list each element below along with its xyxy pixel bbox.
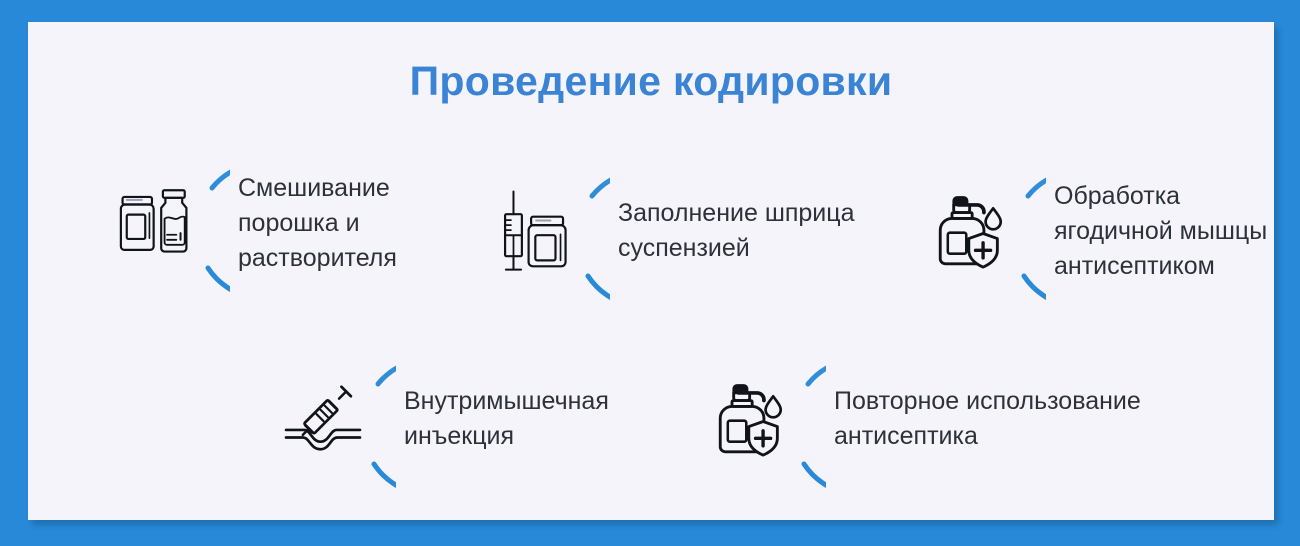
step-4-label: Внутримышечная инъекция [404,384,634,454]
step-5-label: Повторное использование антисептика [834,384,1164,454]
page-title: Проведение кодировки [28,58,1274,105]
content-panel: Проведение кодировки [28,22,1274,520]
step-3-circle [900,158,1046,304]
step-1-label: Смешивание порошка и растворителя [238,171,438,276]
step-3-label: Обработка ягодичной мышцы антисептиком [1054,179,1274,284]
step-item-2[interactable]: Заполнение шприца суспензией [464,158,868,304]
step-1-circle [84,150,230,296]
step-item-1[interactable]: Смешивание порошка и растворителя [84,150,438,296]
slide-frame: Проведение кодировки [0,0,1300,546]
step-item-4[interactable]: Внутримышечная инъекция [250,346,634,492]
step-2-label: Заполнение шприца суспензией [618,196,868,266]
antiseptic-dispenser-shield-icon [931,189,1015,273]
step-5-circle [680,346,826,492]
step-4-circle [250,346,396,492]
step-item-3[interactable]: Обработка ягодичной мышцы антисептиком [900,158,1274,304]
step-2-circle [464,158,610,304]
step-item-5[interactable]: Повторное использование антисептика [680,346,1164,492]
intramuscular-injection-syringe-icon [281,377,365,461]
powder-vial-and-solvent-bottle-icon [115,181,199,265]
antiseptic-dispenser-shield-icon [711,377,795,461]
syringe-and-vial-icon [495,189,579,273]
